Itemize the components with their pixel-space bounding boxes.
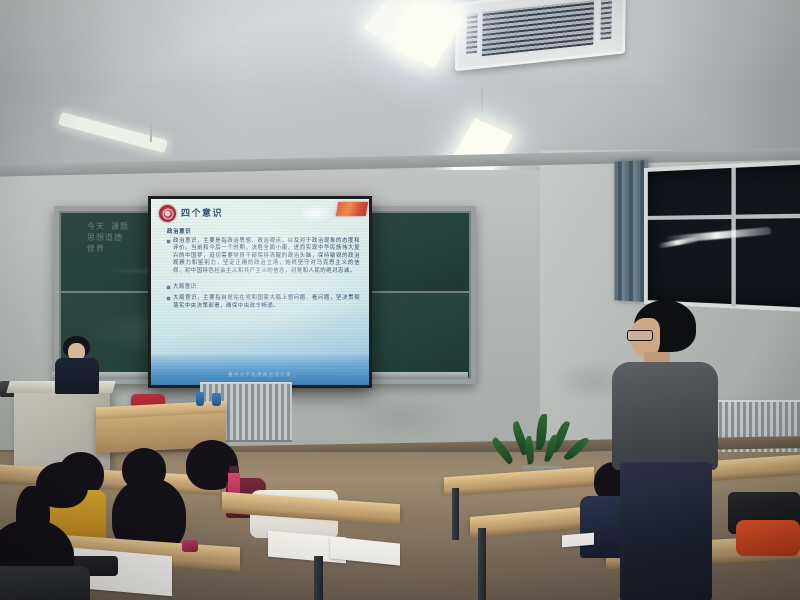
bullet-square-icon xyxy=(167,286,170,289)
student-front-left-body xyxy=(0,566,90,600)
projection-screen: 四个意识 政治意识 政治意识，主要是指政治思想、政治观点，以及对于政治现象的态度… xyxy=(148,196,372,388)
blue-item xyxy=(196,392,204,406)
ac-grille xyxy=(480,0,596,59)
projected-slide: 四个意识 政治意识 政治意识，主要是指政治思想、政治观点，以及对于政治现象的态度… xyxy=(151,199,369,385)
slide-footer-text: 重点大学思想政治理论课 xyxy=(228,372,292,378)
bullet-square-icon xyxy=(167,240,170,243)
university-emblem-icon xyxy=(159,205,176,222)
eyeglasses-icon xyxy=(627,330,653,341)
blue-item xyxy=(212,393,221,406)
desk-leg xyxy=(452,488,459,540)
slide-paragraph: 政治意识，主要是指政治思想、政治观点，以及对于政治现象的态度和评价。当前和今后一… xyxy=(173,238,360,275)
plant-leaf xyxy=(523,436,536,465)
ac-vent-right xyxy=(600,0,612,40)
slide-bullet-row: 大局意识，主要指自觉站在党和国家大局上想问题、看问题，坚决贯彻落实中央决策部署，… xyxy=(167,295,360,310)
slide-paragraph-row: 政治意识，主要是指政治思想、政治观点，以及对于政治现象的态度和评价。当前和今后一… xyxy=(167,238,360,275)
bullet-square-icon xyxy=(167,297,170,300)
teacher-at-podium xyxy=(52,336,102,392)
window-mullion-h xyxy=(648,213,800,220)
teacher-jacket xyxy=(55,358,99,394)
slide-section-heading: 政治意识 xyxy=(167,227,360,235)
plant-leaf xyxy=(536,414,547,450)
slide-bullet-row: 大局意识 xyxy=(167,284,360,291)
bottle-cap xyxy=(229,466,239,473)
night-window xyxy=(644,159,800,313)
window-curtain xyxy=(614,160,648,302)
slide-bullet-two: 大局意识，主要指自觉站在党和国家大局上想问题、看问题，坚决贯彻落实中央决策部署，… xyxy=(173,295,360,310)
standing-student xyxy=(610,300,720,600)
ac-vent-left xyxy=(466,12,478,53)
slide-bullet-one: 大局意识 xyxy=(173,284,197,291)
pink-case xyxy=(182,540,198,552)
desk-leg xyxy=(314,556,323,600)
standing-student-sweater xyxy=(612,362,718,470)
slide-body: 政治意识 政治意识，主要是指政治思想、政治观点，以及对于政治现象的态度和评价。当… xyxy=(167,227,360,310)
standing-student-jeans xyxy=(620,462,712,600)
slide-footer-band: 重点大学思想政治理论课 xyxy=(151,355,369,385)
chalk-writing: 今天 课题 思想道德 修养 xyxy=(87,221,129,254)
slide-ribbon-graphic xyxy=(336,202,368,216)
light-hanger xyxy=(150,124,152,142)
classroom-photo: 今天 课题 思想道德 修养 四个 意识 大局 意识 四个意识 政治意识 政治意识… xyxy=(0,0,800,600)
desk-leg xyxy=(478,528,486,600)
orange-jacket xyxy=(736,520,800,556)
slide-title: 四个意识 xyxy=(181,206,223,219)
slide-decoration xyxy=(301,203,335,223)
